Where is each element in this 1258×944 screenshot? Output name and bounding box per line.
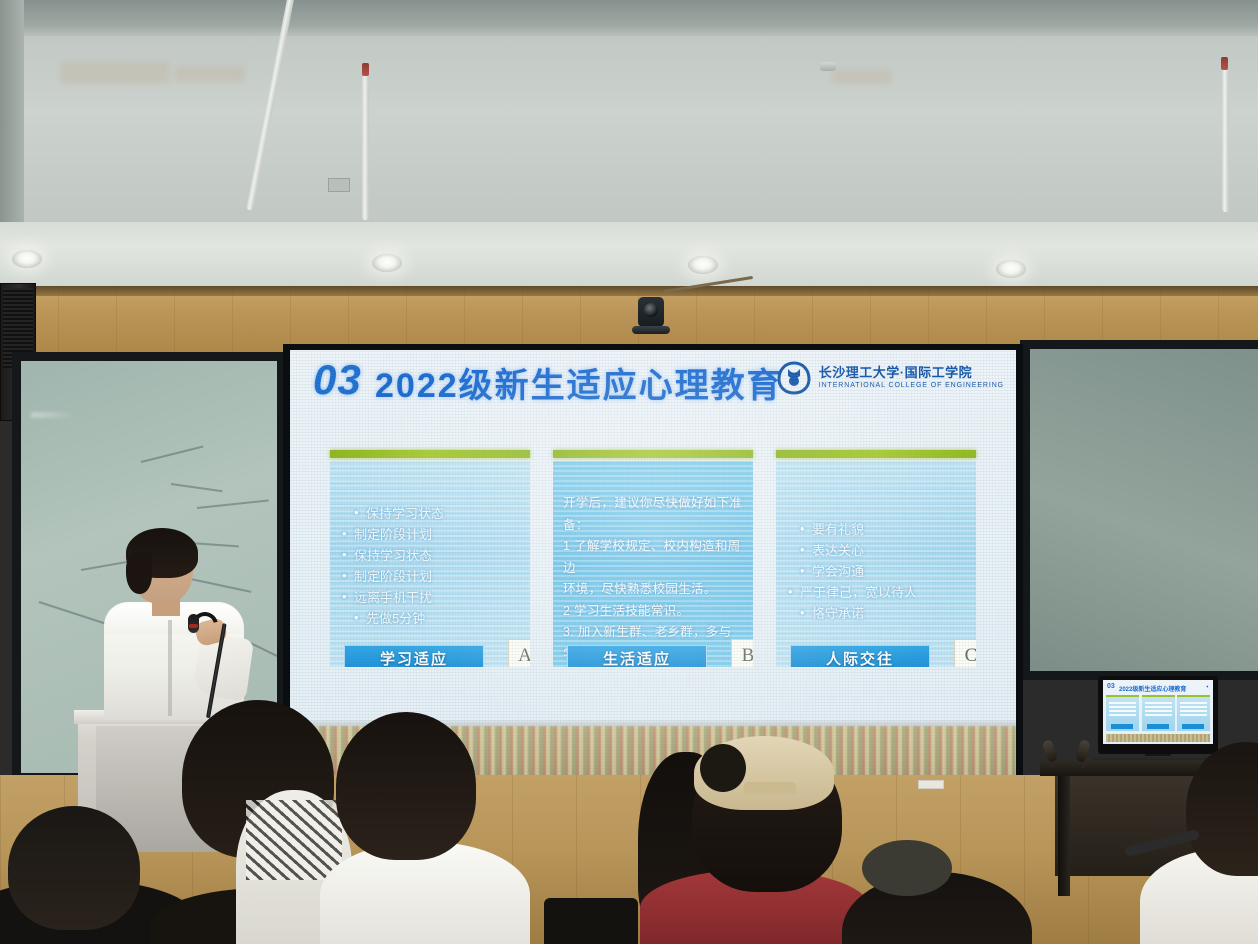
slide-columns: 保持学习状态 制定阶段计划 保持学习状态 制定阶段计划 远离手机干扰 先做5分钟…	[330, 450, 976, 680]
column-badge-c: C	[954, 639, 976, 667]
column-label-a: 学习适应	[344, 645, 484, 667]
control-monitor-screen: 03 2022级新生适应心理教育 ✦	[1103, 680, 1213, 744]
slide-column-c: 要有礼貌 表达关心 学会沟通 严于律己，宽以待人 恪守承诺 人际交往 C	[776, 450, 976, 680]
column-label-c: 人际交往	[790, 645, 930, 667]
ceiling-front-band	[0, 222, 1258, 290]
column-body: 开学后，建议你尽快做好如下准备： 1 了解学校规定、校内构造和周边 环境，尽快熟…	[553, 461, 753, 667]
presenter-hair-side	[126, 552, 152, 594]
ceiling-soffit	[0, 0, 24, 250]
mini-slide-header: 03 2022级新生适应心理教育 ✦	[1105, 682, 1211, 693]
cap-strap-opening	[700, 744, 746, 792]
downlight	[372, 254, 402, 272]
column-body: 保持学习状态 制定阶段计划 保持学习状态 制定阶段计划 远离手机干扰 先做5分钟…	[330, 461, 530, 667]
paragraph-line: 开学后，建议你尽快做好如下准备：	[563, 493, 743, 536]
column-badge-b: B	[731, 639, 753, 667]
mini-lines	[1180, 702, 1207, 718]
column-label-b: 生活适应	[567, 645, 707, 667]
mini-logo: ✦	[1206, 684, 1209, 689]
bullet-item: 表达关心	[786, 540, 966, 561]
mini-column-label	[1147, 724, 1169, 729]
mini-column	[1106, 695, 1139, 731]
bullet-item: 制定阶段计划	[340, 524, 520, 545]
whiteboard-writing	[141, 446, 203, 463]
sprinkler-head-icon	[362, 63, 369, 76]
slide-title: 2022级新生适应心理教育	[375, 358, 783, 407]
mini-column	[1177, 695, 1210, 731]
camera-mount	[632, 326, 670, 334]
column-badge-a: A	[508, 639, 530, 667]
bullet-item: 先做5分钟	[340, 608, 520, 629]
mini-footer-photo	[1106, 734, 1210, 742]
downlight	[12, 250, 42, 268]
downlight	[688, 256, 718, 274]
paragraph-line: 1 了解学校规定、校内构造和周边	[563, 536, 743, 579]
ceiling-stain	[832, 70, 892, 84]
audience-head	[336, 712, 476, 860]
downlight	[996, 260, 1026, 278]
backpack	[862, 840, 952, 896]
logo-text: 长沙理工大学·国际工学院 INTERNATIONAL COLLEGE OF EN…	[819, 366, 1004, 389]
patterned-shirt	[246, 800, 342, 880]
slide-header: 03 2022级新生适应心理教育 长沙理工大学·国际工学院 INTERNATIO…	[290, 350, 1016, 412]
control-desk-leg	[1058, 776, 1070, 896]
ceiling-recess-lip	[24, 0, 1258, 36]
bullet-item: 要有礼貌	[786, 519, 966, 540]
whiteboard-writing	[39, 601, 106, 624]
shirt-placket	[168, 620, 172, 716]
whiteboard-glare	[31, 413, 77, 417]
mini-column	[1142, 695, 1175, 731]
logo-name-en: INTERNATIONAL COLLEGE OF ENGINEERING	[819, 381, 1004, 390]
university-crest-icon	[776, 360, 812, 396]
bullet-item: 远离手机干扰	[340, 587, 520, 608]
bullet-item: 严于律己，宽以待人	[786, 582, 966, 603]
wall-plate	[918, 780, 944, 789]
mini-slide-title: 2022级新生适应心理教育	[1119, 684, 1186, 693]
sprinkler-drop-pipe	[1222, 62, 1229, 212]
ceiling-stain	[60, 62, 170, 84]
camera-lens-icon	[644, 303, 658, 317]
paragraph-line: 2 学习生活技能常识。	[563, 601, 743, 623]
pipe-bracket	[328, 178, 350, 192]
college-logo: 长沙理工大学·国际工学院 INTERNATIONAL COLLEGE OF EN…	[776, 360, 1004, 396]
mini-slide-columns	[1106, 695, 1210, 731]
cap-strap	[744, 782, 796, 794]
logo-name-cn: 长沙理工大学·国际工学院	[819, 366, 1004, 380]
sprinkler-head-icon	[1221, 57, 1228, 70]
slide-number: 03	[313, 356, 362, 404]
mini-lines	[1145, 702, 1172, 718]
mini-column-label	[1182, 724, 1204, 729]
mini-column-label	[1111, 724, 1133, 729]
wood-wall-shadow	[0, 286, 1258, 296]
column-topbar	[330, 450, 530, 458]
slide-column-b: 开学后，建议你尽快做好如下准备： 1 了解学校规定、校内构造和周边 环境，尽快熟…	[553, 450, 753, 680]
paragraph-line: 环境，尽快熟悉校园生活。	[563, 579, 743, 601]
column-body: 要有礼貌 表达关心 学会沟通 严于律己，宽以待人 恪守承诺 人际交往 C	[776, 461, 976, 667]
bullet-item: 保持学习状态	[340, 503, 520, 524]
chair-back	[544, 898, 638, 944]
bullet-item: 保持学习状态	[340, 545, 520, 566]
slide-column-a: 保持学习状态 制定阶段计划 保持学习状态 制定阶段计划 远离手机干扰 先做5分钟…	[330, 450, 530, 680]
column-topbar	[553, 450, 753, 458]
lecture-hall-photo: 03 2022级新生适应心理教育 长沙理工大学·国际工学院 INTERNATIO…	[0, 0, 1258, 944]
sprinkler-drop-pipe	[362, 68, 369, 220]
microphone-indicator	[189, 624, 198, 628]
bullet-item: 制定阶段计划	[340, 566, 520, 587]
column-topbar	[776, 450, 976, 458]
mini-lines	[1109, 702, 1136, 718]
bullet-item: 学会沟通	[786, 561, 966, 582]
right-whiteboard	[1020, 340, 1258, 680]
whiteboard-writing	[171, 483, 223, 492]
audience-head	[8, 806, 140, 930]
smoke-detector-icon	[820, 62, 836, 71]
ceiling-stain	[175, 66, 245, 82]
bullet-item: 恪守承诺	[786, 603, 966, 624]
whiteboard-writing	[197, 499, 269, 508]
mini-slide-number: 03	[1107, 683, 1115, 690]
